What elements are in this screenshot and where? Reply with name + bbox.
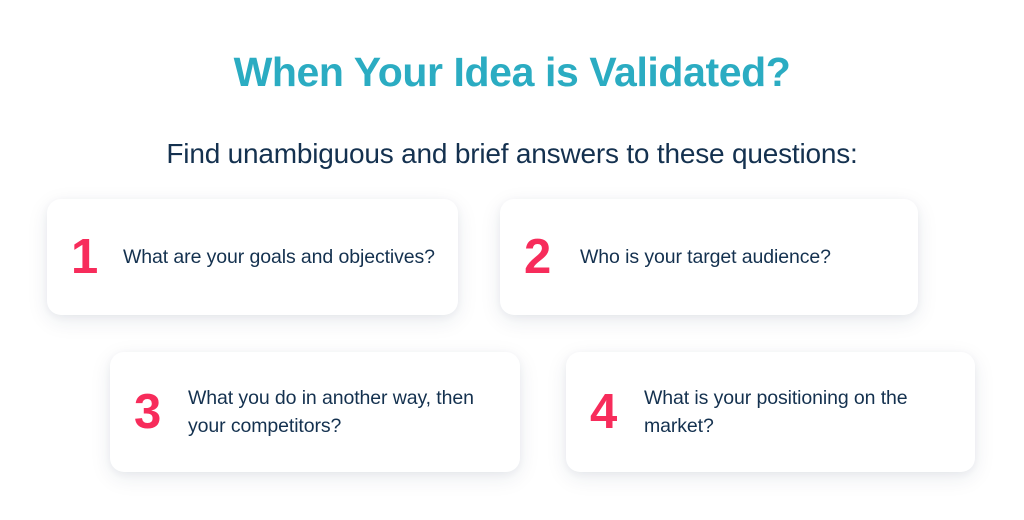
question-card-grid: 1 What are your goals and objectives? 2 … [0, 0, 1024, 520]
question-text-1: What are your goals and objectives? [117, 243, 436, 271]
slide-canvas: When Your Idea is Validated? Find unambi… [0, 0, 1024, 520]
question-card-4[interactable]: 4 What is your positioning on the market… [566, 352, 975, 472]
question-number-4: 4 [590, 388, 636, 437]
question-card-3[interactable]: 3 What you do in another way, then your … [110, 352, 520, 472]
question-card-2[interactable]: 2 Who is your target audience? [500, 199, 918, 315]
question-text-2: Who is your target audience? [570, 243, 896, 271]
question-number-2: 2 [524, 233, 570, 282]
question-text-3: What you do in another way, then your co… [180, 384, 498, 441]
question-number-3: 3 [134, 388, 180, 437]
question-text-4: What is your positioning on the market? [636, 384, 953, 441]
question-card-1[interactable]: 1 What are your goals and objectives? [47, 199, 458, 315]
question-number-1: 1 [71, 233, 117, 282]
